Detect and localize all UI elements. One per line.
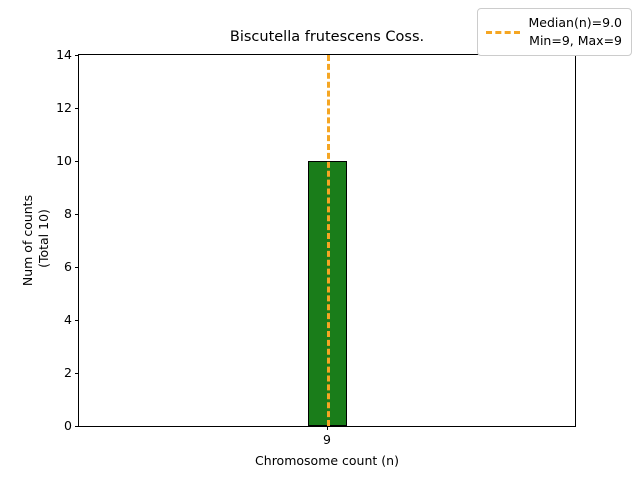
y-axis-tick-mark — [75, 267, 79, 268]
legend-dashed-line-icon — [486, 31, 520, 34]
y-axis-tick-mark — [75, 426, 79, 427]
legend-minmax-label: Min=9, Max=9 — [529, 33, 622, 49]
y-axis-tick-mark — [75, 108, 79, 109]
y-axis-tick-label: 2 — [64, 367, 72, 380]
plot-inner — [79, 55, 575, 426]
legend-median-label: Median(n)=9.0 — [529, 15, 623, 31]
figure-canvas: Biscutella frutescens Coss. 024681012149… — [0, 0, 640, 480]
y-axis-label: Num of counts (Total 10) — [20, 54, 54, 427]
x-axis-tick-label: 9 — [323, 433, 331, 447]
y-axis-tick-mark — [75, 55, 79, 56]
y-axis-tick-label: 8 — [64, 208, 72, 221]
y-axis-tick-mark — [75, 320, 79, 321]
y-axis-tick-mark — [75, 214, 79, 215]
y-axis-tick-label: 4 — [64, 314, 72, 327]
legend-box: Median(n)=9.0 Min=9, Max=9 — [477, 8, 633, 56]
y-axis-tick-mark — [75, 373, 79, 374]
y-axis-tick-label: 12 — [56, 102, 72, 115]
y-axis-tick-label: 10 — [56, 155, 72, 168]
y-axis-tick-label: 14 — [56, 49, 72, 62]
legend-text-group: Median(n)=9.0 Min=9, Max=9 — [529, 15, 623, 49]
y-axis-tick-mark — [75, 161, 79, 162]
median-line — [327, 55, 330, 426]
y-axis-tick-label: 6 — [64, 261, 72, 274]
x-axis-label: Chromosome count (n) — [78, 453, 576, 468]
x-axis-tick-mark — [327, 426, 328, 430]
y-axis-tick-label: 0 — [64, 420, 72, 433]
plot-area: 024681012149 — [78, 54, 576, 427]
